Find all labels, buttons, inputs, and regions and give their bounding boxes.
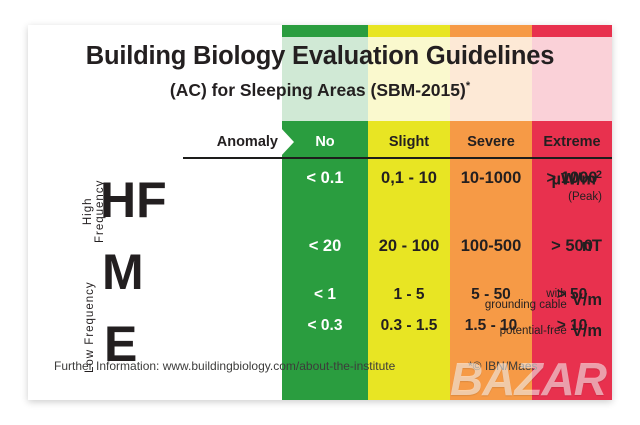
row-letter-m: M bbox=[102, 247, 144, 297]
footer-copyright: *© IBN/Maes bbox=[468, 359, 538, 373]
cell-e-grounded-severe: 5 - 50 bbox=[450, 284, 532, 306]
footer-further-information[interactable]: Further Information: www.buildingbiology… bbox=[54, 359, 395, 373]
cell-e-free-severe: 1.5 - 10 bbox=[450, 315, 532, 337]
unit-sublabel-peak: (Peak) bbox=[362, 190, 602, 204]
cell-m-extreme: > 500 bbox=[532, 235, 612, 257]
cell-hf-slight: 0,1 - 10 bbox=[368, 167, 450, 189]
header-anomaly-label: Anomaly bbox=[148, 127, 286, 157]
cell-e-grounded-no: < 1 bbox=[282, 284, 368, 306]
subtitle-asterisk: * bbox=[466, 80, 470, 92]
cell-hf-severe: 10-1000 bbox=[450, 167, 532, 189]
page-subtitle: (AC) for Sleeping Areas (SBM-2015)* bbox=[28, 74, 612, 102]
group-label-high-line2: Frequency bbox=[94, 180, 106, 243]
group-label-high-frequency: High Frequency bbox=[82, 180, 106, 243]
column-header-severe: Severe bbox=[450, 127, 532, 157]
row-letter-hf: HF bbox=[100, 175, 167, 225]
cell-m-no: < 20 bbox=[282, 235, 368, 257]
cell-e-free-no: < 0.3 bbox=[282, 315, 368, 337]
column-header-extreme: Extreme bbox=[532, 127, 612, 157]
group-label-high-line1: High bbox=[82, 198, 94, 226]
cell-m-slight: 20 - 100 bbox=[368, 235, 450, 257]
column-header-no: No bbox=[282, 127, 368, 157]
footer: Further Information: www.buildingbiology… bbox=[28, 359, 612, 381]
title-block: Building Biology Evaluation Guidelines (… bbox=[28, 39, 612, 102]
cell-hf-extreme: > 1000 bbox=[532, 167, 612, 189]
guidelines-card: Building Biology Evaluation Guidelines (… bbox=[28, 25, 612, 400]
cell-e-grounded-extreme: > 50 bbox=[532, 284, 612, 306]
page-title: Building Biology Evaluation Guidelines bbox=[28, 39, 612, 73]
cell-e-free-extreme: > 10 bbox=[532, 315, 612, 337]
table-header-row: Anomaly No Slight Severe Extreme bbox=[28, 127, 612, 157]
page-subtitle-text: (AC) for Sleeping Areas (SBM-2015) bbox=[170, 80, 466, 100]
cell-e-grounded-slight: 1 - 5 bbox=[368, 284, 450, 306]
guidelines-table: Anomaly No Slight Severe Extreme µW/m2 (… bbox=[28, 127, 612, 343]
cell-m-severe: 100-500 bbox=[450, 235, 532, 257]
cell-e-free-slight: 0.3 - 1.5 bbox=[368, 315, 450, 337]
column-header-slight: Slight bbox=[368, 127, 450, 157]
header-divider-rule bbox=[183, 157, 612, 159]
cell-hf-no: < 0.1 bbox=[282, 167, 368, 189]
